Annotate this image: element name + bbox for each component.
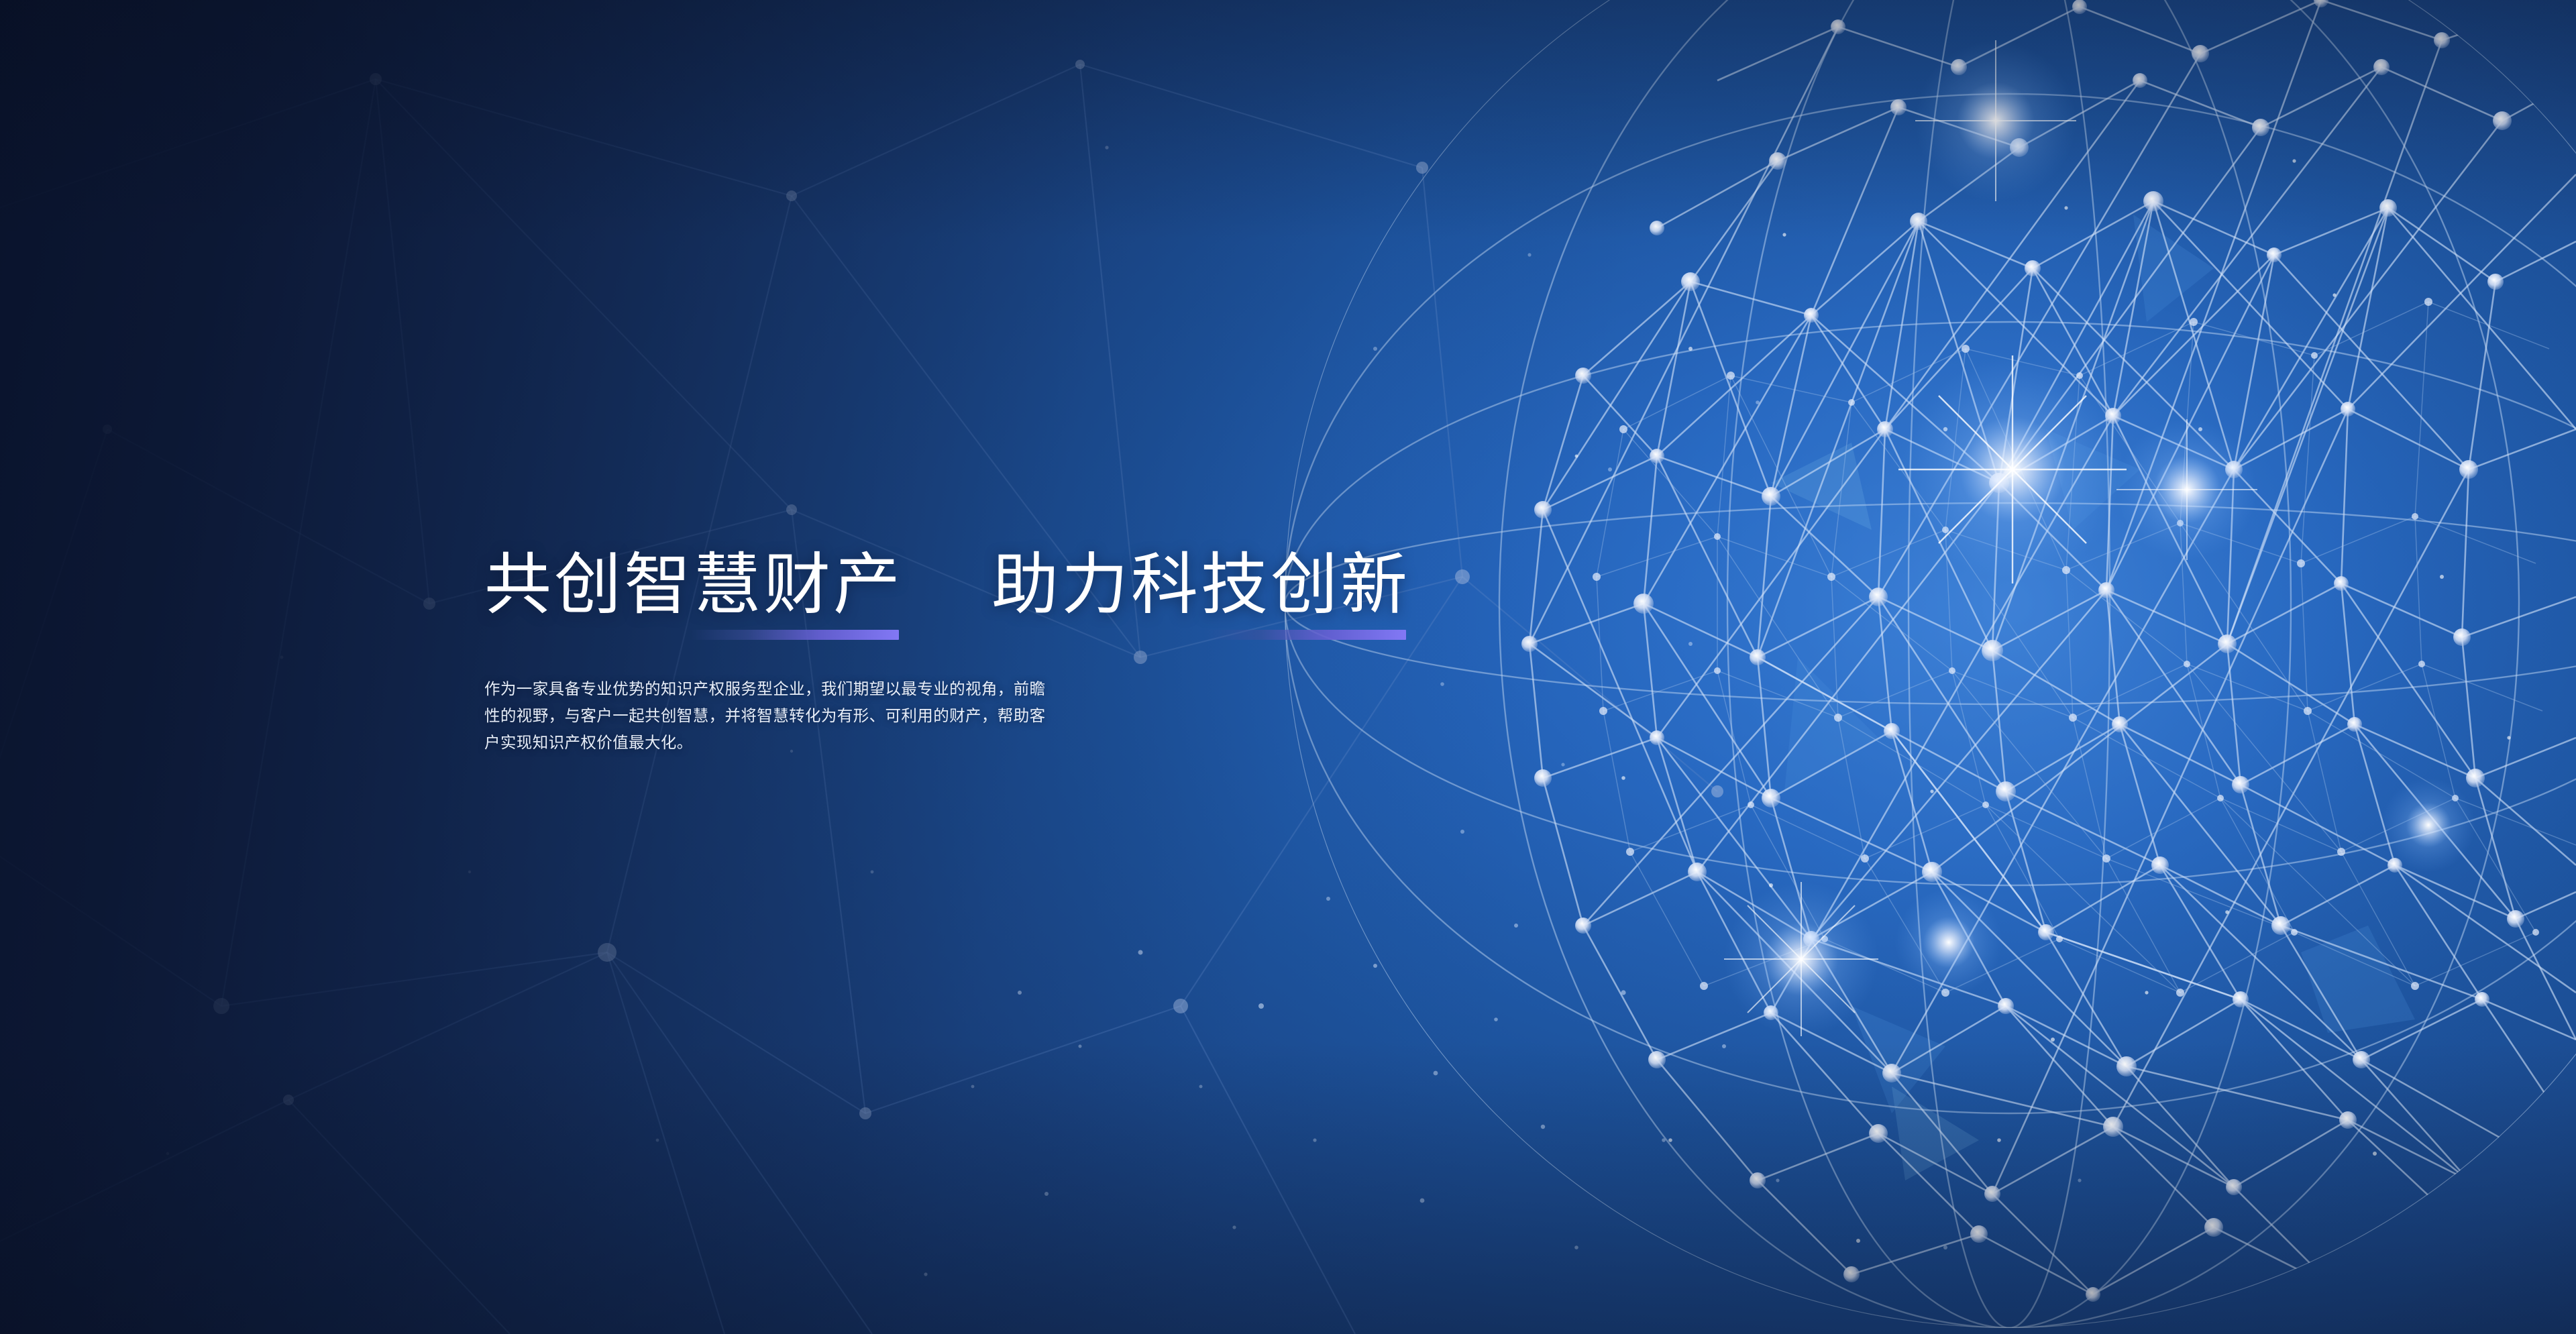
- hero-copy-block: 共创智慧财产 助力科技创新 作为一家具备专业优势的知识产权服务型企业，我们期望以…: [484, 549, 1437, 756]
- headline-segment-2: 助力科技创新: [991, 549, 1410, 621]
- hero-description: 作为一家具备专业优势的知识产权服务型企业，我们期望以最专业的视角，前瞻 性的视野…: [484, 621, 1420, 756]
- description-line-3: 户实现知识产权价值最大化。: [484, 729, 1420, 756]
- headline-segment-2-text: 助力科技创新: [991, 549, 1410, 621]
- hero-banner: 共创智慧财产 助力科技创新 作为一家具备专业优势的知识产权服务型企业，我们期望以…: [0, 0, 2576, 1334]
- description-line-1: 作为一家具备专业优势的知识产权服务型企业，我们期望以最专业的视角，前瞻: [484, 675, 1420, 702]
- accent-bar-1: [690, 630, 899, 640]
- page-title: 共创智慧财产 助力科技创新: [484, 549, 1437, 621]
- accent-bar-2: [1205, 630, 1406, 640]
- headline-segment-1-text: 共创智慧财产: [484, 549, 903, 621]
- description-line-2: 性的视野，与客户一起共创智慧，并将智慧转化为有形、可利用的财产，帮助客: [484, 702, 1420, 729]
- headline-segment-1: 共创智慧财产: [484, 549, 903, 621]
